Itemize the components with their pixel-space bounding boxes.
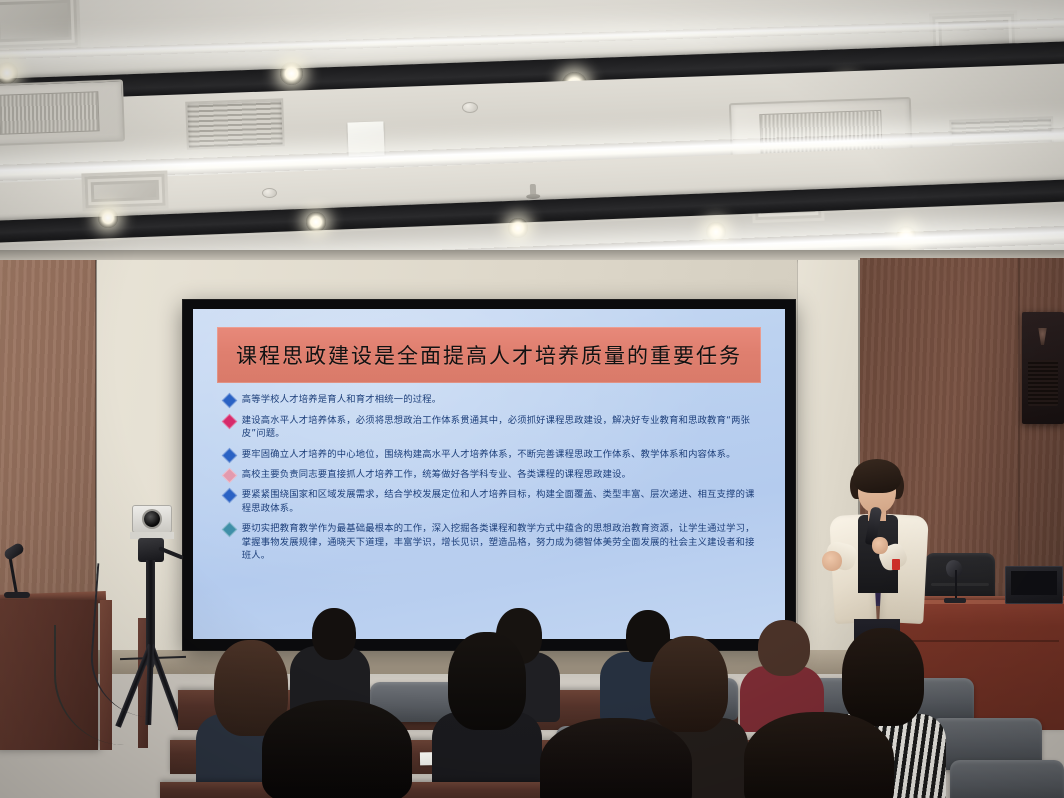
podium-microphone-base — [4, 592, 30, 598]
slide-bullet-text: 要紧紧围绕国家和区域发展需求，结合学校发展定位和人才培养目标，构建全面覆盖、类型… — [242, 488, 757, 515]
slide-bullet-text: 要牢固确立人才培养的中心地位，围绕构建高水平人才培养体系，不断完善课程思政工作体… — [242, 448, 736, 461]
speaker-tweeter — [1035, 328, 1050, 345]
diamond-bullet-icon — [222, 413, 238, 429]
diamond-bullet-icon — [222, 468, 238, 484]
slide-bullet-text: 高等学校人才培养是育人和育才相统一的过程。 — [242, 393, 441, 406]
camera-lens-icon — [144, 511, 160, 527]
slide-bullet-item: 要切实把教育教学作为最基础最根本的工作，深入挖掘各类课程和教学方式中蕴含的思想政… — [224, 522, 757, 562]
smoke-detector-icon — [262, 188, 277, 198]
presenter-badge — [892, 559, 900, 570]
slide-bullet-item: 高等学校人才培养是育人和育才相统一的过程。 — [224, 393, 757, 406]
diamond-bullet-icon — [222, 447, 238, 463]
projection-screen[interactable]: 课程思政建设是全面提高人才培养质量的重要任务 高等学校人才培养是育人和育才相统一… — [183, 300, 795, 650]
ac-cassette-unit — [0, 79, 125, 146]
audience-member — [740, 618, 824, 722]
audience-member — [540, 718, 692, 798]
sprinkler-icon — [530, 184, 536, 196]
audience-chair — [950, 760, 1064, 798]
lecture-hall-photo: 课程思政建设是全面提高人才培养质量的重要任务 高等学校人才培养是育人和育才相统一… — [0, 0, 1064, 798]
audience-member — [432, 632, 542, 798]
downlight-icon — [280, 62, 303, 85]
audience-head — [758, 620, 810, 676]
slide-title: 课程思政建设是全面提高人才培养质量的重要任务 — [236, 340, 742, 370]
audience-member — [262, 700, 412, 798]
slide-bullet-list: 高等学校人才培养是育人和育才相统一的过程。 建设高水平人才培养体系，必须将思想政… — [224, 393, 757, 570]
audience-head — [312, 608, 356, 660]
downlight-icon — [508, 218, 528, 238]
presentation-slide: 课程思政建设是全面提高人才培养质量的重要任务 高等学校人才培养是育人和育才相统一… — [193, 309, 785, 639]
audience-head — [744, 712, 894, 798]
presenter-hand-left — [822, 551, 842, 571]
presenter-hand-right — [872, 537, 888, 554]
diamond-bullet-icon — [222, 488, 238, 504]
slide-bullet-text: 建设高水平人才培养体系，必须将思想政治工作体系贯通其中，必须抓好课程思政建设，解… — [242, 414, 757, 441]
ceiling-vent-icon — [81, 171, 168, 212]
slide-title-bar: 课程思政建设是全面提高人才培养质量的重要任务 — [217, 327, 762, 383]
ceiling — [0, 0, 1064, 272]
slide-bullet-text: 要切实把教育教学作为最基础最根本的工作，深入挖掘各类课程和教学方式中蕴含的思想政… — [242, 522, 757, 562]
diamond-bullet-icon — [222, 522, 238, 538]
slide-bullet-text: 高校主要负责同志要直接抓人才培养工作，统筹做好各学科专业、各类课程的课程思政建设… — [242, 468, 631, 481]
wall-speaker-icon — [1022, 312, 1064, 424]
slide-bullet-item: 要紧紧围绕国家和区域发展需求，结合学校发展定位和人才培养目标，构建全面覆盖、类型… — [224, 488, 757, 515]
slide-bullet-item: 要牢固确立人才培养的中心地位，围绕构建高水平人才培养体系，不断完善课程思政工作体… — [224, 448, 757, 461]
slide-bullet-item: 高校主要负责同志要直接抓人才培养工作，统筹做好各学科专业、各类课程的课程思政建设… — [224, 468, 757, 481]
ceiling-vent-icon — [185, 98, 285, 149]
presenter-hair — [853, 459, 901, 493]
diamond-bullet-icon — [222, 393, 238, 409]
slide-bullet-item: 建设高水平人才培养体系，必须将思想政治工作体系贯通其中，必须抓好课程思政建设，解… — [224, 414, 757, 441]
smoke-detector-icon — [462, 102, 478, 113]
desk-microphone-base — [944, 598, 966, 603]
downlight-icon — [98, 208, 118, 228]
laptop-icon[interactable] — [1005, 566, 1063, 604]
audience-head — [540, 718, 692, 798]
audience-member — [744, 712, 894, 798]
speaker-woofer — [1028, 360, 1058, 406]
audience-head — [448, 632, 526, 730]
downlight-icon — [306, 212, 326, 232]
ceiling-vent-icon — [0, 0, 81, 52]
audience-head — [262, 700, 412, 798]
